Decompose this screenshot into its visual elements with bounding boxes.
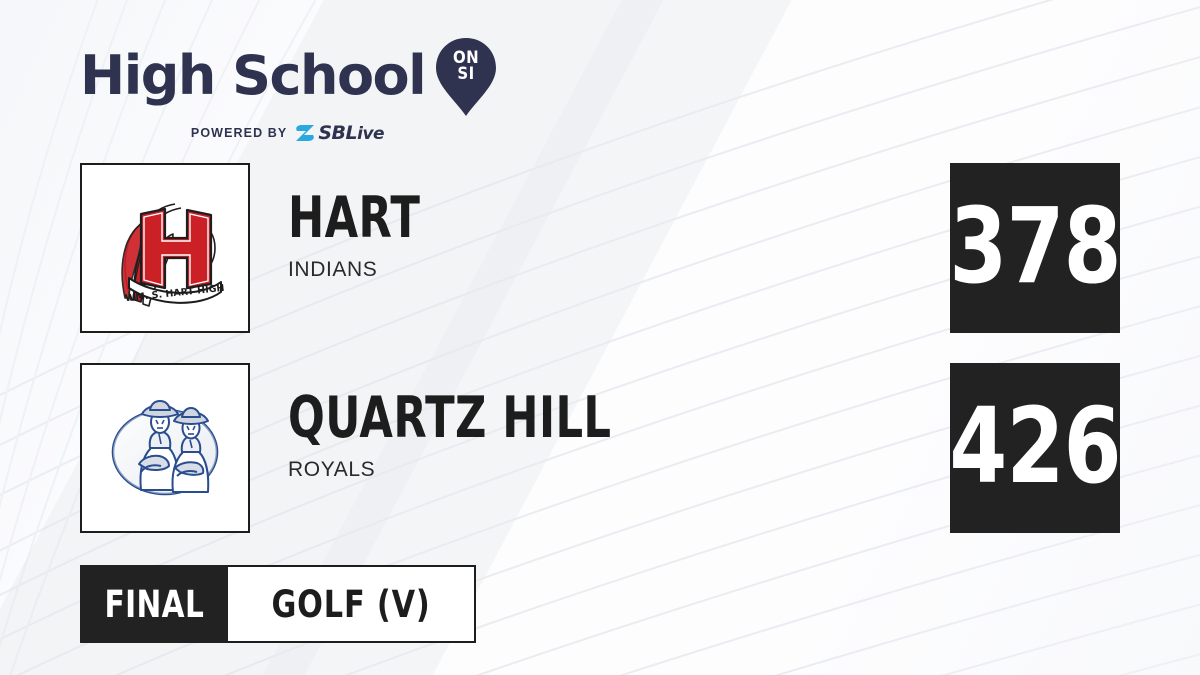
- team-identity: HART INDIANS: [288, 191, 938, 282]
- site-logo: High School ON SI POWERED BY SBLive: [80, 36, 510, 136]
- scoreboard-graphic: High School ON SI POWERED BY SBLive: [0, 0, 1200, 675]
- game-status-bar: FINAL GOLF (V): [80, 565, 476, 643]
- team-score: 426: [949, 394, 1120, 498]
- team-name: HART: [288, 191, 782, 245]
- team-row: QUARTZ HILL ROYALS 426: [80, 363, 1120, 533]
- quartz-hill-royals-logo: [80, 363, 250, 533]
- team-mascot: INDIANS: [288, 258, 938, 282]
- team-name: QUARTZ HILL: [288, 391, 782, 445]
- status-badge: FINAL: [80, 565, 228, 643]
- hart-indians-logo: WM. S. HART HIGH: [80, 163, 250, 333]
- status-badge-label: FINAL: [104, 583, 204, 626]
- team-score: 378: [949, 194, 1120, 298]
- sport-label: GOLF (V): [271, 583, 430, 626]
- sblive-logo: SBLive: [294, 123, 384, 143]
- logo-wordmark: High School: [80, 49, 425, 103]
- sblive-word-upper: SBL: [318, 122, 357, 144]
- badge-bottom-text: SI: [439, 66, 494, 82]
- badge-text: ON SI: [439, 50, 494, 82]
- sblive-word-lower: ive: [357, 124, 384, 144]
- sblive-s-icon: [294, 123, 316, 143]
- sport-label-box: GOLF (V): [228, 565, 476, 643]
- map-pin-icon: ON SI: [435, 38, 497, 116]
- powered-by-label: POWERED BY: [191, 126, 287, 140]
- score-box: 378: [950, 163, 1120, 333]
- score-box: 426: [950, 363, 1120, 533]
- team-row: WM. S. HART HIGH HART INDIANS 378: [80, 163, 1120, 333]
- team-mascot: ROYALS: [288, 458, 938, 482]
- powered-by-row: POWERED BY SBLive: [80, 123, 495, 143]
- team-identity: QUARTZ HILL ROYALS: [288, 391, 938, 482]
- sblive-wordmark: SBLive: [318, 124, 384, 143]
- logo-row: High School ON SI: [80, 36, 510, 116]
